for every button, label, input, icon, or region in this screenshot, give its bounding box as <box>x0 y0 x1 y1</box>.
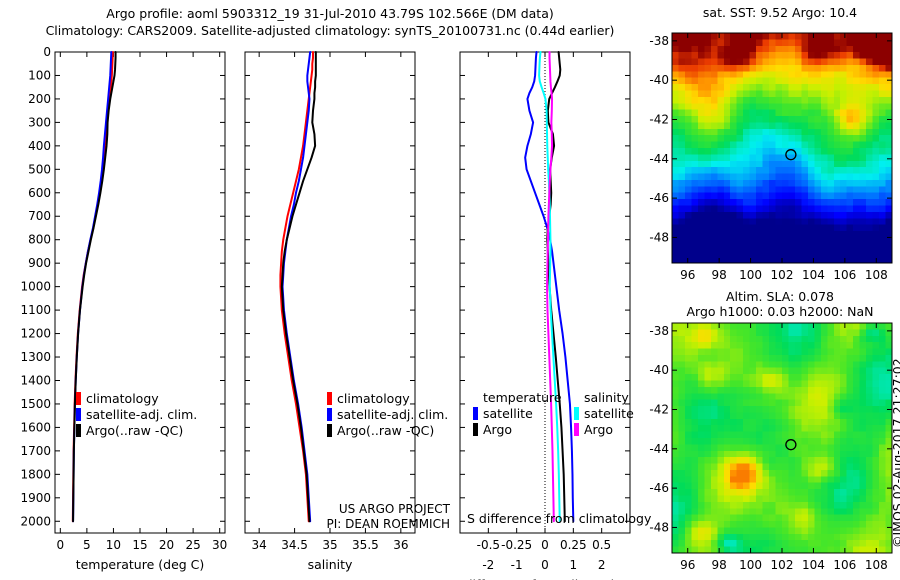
field-cell <box>724 71 731 78</box>
field-cell <box>717 122 724 129</box>
field-cell <box>678 444 685 451</box>
field-cell <box>873 393 880 400</box>
field-cell <box>672 393 679 400</box>
field-cell <box>717 59 724 66</box>
field-cell <box>685 329 692 336</box>
field-cell <box>730 508 737 515</box>
field-cell <box>704 349 711 356</box>
field-cell <box>743 250 750 257</box>
field-cell <box>691 444 698 451</box>
field-cell <box>840 71 847 78</box>
field-cell <box>711 154 718 161</box>
field-cell <box>776 250 783 257</box>
field-cell <box>801 237 808 244</box>
field-cell <box>698 527 705 534</box>
field-cell <box>873 489 880 496</box>
field-cell <box>717 361 724 368</box>
field-cell <box>788 186 795 193</box>
field-cell <box>840 476 847 483</box>
field-cell <box>814 425 821 432</box>
field-cell <box>672 381 679 388</box>
field-cell <box>834 457 841 464</box>
field-cell <box>847 412 854 419</box>
field-cell <box>698 78 705 85</box>
field-cell <box>685 84 692 91</box>
field-cell <box>672 412 679 419</box>
field-cell <box>730 193 737 200</box>
field-cell <box>782 103 789 110</box>
field-cell <box>698 400 705 407</box>
field-cell <box>730 444 737 451</box>
field-cell <box>685 412 692 419</box>
legend-item-satellite-clim: satellite-adj. clim. <box>76 406 197 422</box>
field-cell <box>769 515 776 522</box>
field-cell <box>840 457 847 464</box>
field-cell <box>788 97 795 104</box>
field-cell <box>873 457 880 464</box>
field-cell <box>853 97 860 104</box>
field-cell <box>763 103 770 110</box>
field-cell <box>860 349 867 356</box>
field-cell <box>724 167 731 174</box>
field-cell <box>840 432 847 439</box>
field-cell <box>730 323 737 330</box>
field-cell <box>795 116 802 123</box>
field-cell <box>743 508 750 515</box>
field-cell <box>672 349 679 356</box>
field-cell <box>704 515 711 522</box>
field-cell <box>795 540 802 547</box>
field-cell <box>704 250 711 257</box>
field-cell <box>788 142 795 149</box>
field-cell <box>801 336 808 343</box>
field-cell <box>691 116 698 123</box>
field-cell <box>743 103 750 110</box>
field-cell <box>776 218 783 225</box>
field-cell <box>808 225 815 232</box>
field-cell <box>821 419 828 426</box>
field-cell <box>711 502 718 509</box>
field-cell <box>672 323 679 330</box>
field-cell <box>873 451 880 458</box>
field-cell <box>853 502 860 509</box>
field-cell <box>711 508 718 515</box>
field-cell <box>788 174 795 181</box>
field-cell <box>737 97 744 104</box>
field-cell <box>698 84 705 91</box>
field-cell <box>827 212 834 219</box>
field-cell <box>672 457 679 464</box>
field-cell <box>814 78 821 85</box>
field-cell <box>879 78 886 85</box>
field-cell <box>776 432 783 439</box>
field-cell <box>827 406 834 413</box>
field-cell <box>763 419 770 426</box>
field-cell <box>724 250 731 257</box>
field-cell <box>821 135 828 142</box>
field-cell <box>879 457 886 464</box>
field-cell <box>704 103 711 110</box>
field-cell <box>737 218 744 225</box>
field-cell <box>730 212 737 219</box>
field-cell <box>827 451 834 458</box>
field-cell <box>769 193 776 200</box>
field-cell <box>743 199 750 206</box>
field-cell <box>704 355 711 362</box>
field-cell <box>873 406 880 413</box>
field-cell <box>788 91 795 98</box>
field-cell <box>737 393 744 400</box>
field-cell <box>743 186 750 193</box>
field-cell <box>711 400 718 407</box>
field-cell <box>724 444 731 451</box>
field-cell <box>717 250 724 257</box>
field-cell <box>685 444 692 451</box>
field-cell <box>724 400 731 407</box>
field-cell <box>691 250 698 257</box>
field-cell <box>678 425 685 432</box>
field-cell <box>834 400 841 407</box>
field-cell <box>737 103 744 110</box>
field-cell <box>724 515 731 522</box>
field-cell <box>821 432 828 439</box>
field-cell <box>814 225 821 232</box>
field-cell <box>776 457 783 464</box>
field-cell <box>691 521 698 528</box>
field-cell <box>879 129 886 136</box>
field-cell <box>808 464 815 471</box>
field-cell <box>711 444 718 451</box>
field-cell <box>691 161 698 168</box>
field-cell <box>678 361 685 368</box>
field-cell <box>860 129 867 136</box>
field-cell <box>698 154 705 161</box>
s-axis-tick-label: 0 <box>541 538 549 552</box>
field-cell <box>814 142 821 149</box>
sla-map: 9698100102104106108-38-40-42-44-46-48 <box>660 290 900 580</box>
field-cell <box>698 393 705 400</box>
field-cell <box>743 174 750 181</box>
field-cell <box>827 167 834 174</box>
project-credit-line-1: US ARGO PROJECT <box>300 502 450 517</box>
field-cell <box>756 180 763 187</box>
field-cell <box>737 142 744 149</box>
field-cell <box>685 361 692 368</box>
field-cell <box>821 174 828 181</box>
field-cell <box>704 52 711 59</box>
field-cell <box>879 154 886 161</box>
field-cell <box>717 244 724 251</box>
field-cell <box>756 206 763 213</box>
field-cell <box>717 52 724 59</box>
field-cell <box>743 425 750 432</box>
field-cell <box>672 199 679 206</box>
x-tick-label: 30 <box>212 538 227 552</box>
field-cell <box>821 97 828 104</box>
field-cell <box>834 174 841 181</box>
field-cell <box>685 368 692 375</box>
field-cell <box>763 368 770 375</box>
field-cell <box>691 419 698 426</box>
field-cell <box>866 174 873 181</box>
field-cell <box>691 174 698 181</box>
field-cell <box>879 71 886 78</box>
field-cell <box>847 237 854 244</box>
field-cell <box>866 432 873 439</box>
lon-tick-label: 104 <box>802 268 825 282</box>
field-cell <box>788 521 795 528</box>
y-tick-label: 1900 <box>20 491 51 505</box>
field-cell <box>879 470 886 477</box>
field-cell <box>879 91 886 98</box>
field-cell <box>691 406 698 413</box>
t-axis-tick-label: 0 <box>541 558 549 572</box>
field-cell <box>788 244 795 251</box>
field-cell <box>730 355 737 362</box>
field-cell <box>685 432 692 439</box>
field-cell <box>827 502 834 509</box>
field-cell <box>685 97 692 104</box>
field-cell <box>737 78 744 85</box>
field-cell <box>808 451 815 458</box>
field-cell <box>756 361 763 368</box>
field-cell <box>814 508 821 515</box>
field-cell <box>782 33 789 40</box>
field-cell <box>879 122 886 129</box>
field-cell <box>788 65 795 72</box>
field-cell <box>847 180 854 187</box>
y-tick-label: 1700 <box>20 444 51 458</box>
x-tick-label: 5 <box>83 538 91 552</box>
field-cell <box>743 470 750 477</box>
field-cell <box>730 336 737 343</box>
field-cell <box>717 496 724 503</box>
field-cell <box>840 419 847 426</box>
field-cell <box>698 502 705 509</box>
field-cell <box>808 110 815 117</box>
field-cell <box>711 534 718 541</box>
field-cell <box>821 451 828 458</box>
field-cell <box>847 368 854 375</box>
field-cell <box>834 527 841 534</box>
field-cell <box>821 534 828 541</box>
field-cell <box>704 218 711 225</box>
field-cell <box>704 540 711 547</box>
field-cell <box>717 432 724 439</box>
field-cell <box>672 33 679 40</box>
field-cell <box>827 129 834 136</box>
field-cell <box>678 142 685 149</box>
field-cell <box>834 46 841 53</box>
field-cell <box>879 387 886 394</box>
field-cell <box>776 406 783 413</box>
field-cell <box>866 374 873 381</box>
field-cell <box>847 142 854 149</box>
legend-label-temp-argo: Argo <box>483 422 512 437</box>
field-cell <box>678 323 685 330</box>
field-cell <box>840 91 847 98</box>
field-cell <box>737 412 744 419</box>
field-cell <box>691 425 698 432</box>
y-tick-label: 1400 <box>20 373 51 387</box>
field-cell <box>717 406 724 413</box>
field-cell <box>834 534 841 541</box>
field-cell <box>827 444 834 451</box>
field-cell <box>840 444 847 451</box>
field-cell <box>717 180 724 187</box>
field-cell <box>730 489 737 496</box>
field-cell <box>808 515 815 522</box>
field-cell <box>782 250 789 257</box>
field-cell <box>814 496 821 503</box>
field-cell <box>866 457 873 464</box>
field-cell <box>866 406 873 413</box>
field-cell <box>776 451 783 458</box>
field-cell <box>866 483 873 490</box>
field-cell <box>743 374 750 381</box>
field-cell <box>704 225 711 232</box>
field-cell <box>834 110 841 117</box>
plot-frame <box>245 52 415 533</box>
field-cell <box>678 78 685 85</box>
field-cell <box>769 167 776 174</box>
field-cell <box>860 46 867 53</box>
field-cell <box>847 419 854 426</box>
field-cell <box>737 342 744 349</box>
field-cell <box>879 39 886 46</box>
field-cell <box>821 129 828 136</box>
field-cell <box>756 470 763 477</box>
field-cell <box>840 470 847 477</box>
field-cell <box>724 432 731 439</box>
field-cell <box>866 329 873 336</box>
field-cell <box>743 78 750 85</box>
y-tick-label: 1300 <box>20 350 51 364</box>
field-cell <box>756 432 763 439</box>
field-cell <box>853 540 860 547</box>
field-cell <box>685 323 692 330</box>
field-cell <box>866 540 873 547</box>
field-cell <box>847 323 854 330</box>
legend-item-argo: Argo(..raw -QC) <box>76 422 197 438</box>
field-cell <box>866 237 873 244</box>
field-cell <box>743 329 750 336</box>
field-cell <box>750 110 757 117</box>
field-cell <box>847 135 854 142</box>
field-cell <box>853 489 860 496</box>
field-cell <box>814 470 821 477</box>
field-cell <box>737 161 744 168</box>
field-cell <box>879 225 886 232</box>
field-cell <box>788 400 795 407</box>
field-cell <box>704 361 711 368</box>
field-cell <box>873 225 880 232</box>
field-cell <box>769 116 776 123</box>
field-cell <box>776 65 783 72</box>
field-cell <box>873 231 880 238</box>
field-cell <box>711 323 718 330</box>
field-cell <box>711 46 718 53</box>
field-cell <box>808 393 815 400</box>
field-cell <box>860 368 867 375</box>
sst-field <box>672 33 893 264</box>
field-cell <box>795 368 802 375</box>
field-cell <box>821 110 828 117</box>
field-cell <box>782 244 789 251</box>
field-cell <box>860 148 867 155</box>
field-cell <box>672 180 679 187</box>
field-cell <box>821 361 828 368</box>
field-cell <box>717 381 724 388</box>
field-cell <box>685 39 692 46</box>
field-cell <box>853 419 860 426</box>
field-cell <box>698 135 705 142</box>
field-cell <box>814 180 821 187</box>
field-cell <box>750 142 757 149</box>
field-cell <box>724 142 731 149</box>
field-cell <box>795 534 802 541</box>
field-cell <box>853 212 860 219</box>
x-tick-label: 25 <box>185 538 200 552</box>
field-cell <box>711 218 718 225</box>
field-cell <box>821 521 828 528</box>
field-cell <box>801 212 808 219</box>
field-cell <box>860 33 867 40</box>
field-cell <box>834 231 841 238</box>
field-cell <box>711 476 718 483</box>
field-cell <box>808 129 815 136</box>
field-cell <box>821 167 828 174</box>
field-cell <box>821 218 828 225</box>
field-cell <box>763 515 770 522</box>
field-cell <box>763 508 770 515</box>
field-cell <box>743 212 750 219</box>
field-cell <box>827 361 834 368</box>
field-cell <box>808 381 815 388</box>
field-cell <box>847 84 854 91</box>
field-cell <box>737 174 744 181</box>
field-cell <box>873 122 880 129</box>
field-cell <box>743 342 750 349</box>
field-cell <box>795 412 802 419</box>
field-cell <box>827 218 834 225</box>
field-cell <box>821 515 828 522</box>
field-cell <box>840 52 847 59</box>
field-cell <box>801 432 808 439</box>
field-cell <box>788 116 795 123</box>
field-cell <box>788 470 795 477</box>
field-cell <box>698 521 705 528</box>
field-cell <box>756 231 763 238</box>
legend-label-sal-satellite: satellite <box>584 406 634 421</box>
field-cell <box>873 161 880 168</box>
field-cell <box>840 412 847 419</box>
field-cell <box>717 489 724 496</box>
field-cell <box>801 412 808 419</box>
project-credit-line-2: PI: DEAN ROEMMICH <box>300 517 450 532</box>
field-cell <box>814 199 821 206</box>
field-cell <box>782 540 789 547</box>
field-cell <box>685 425 692 432</box>
field-cell <box>763 110 770 117</box>
field-cell <box>763 71 770 78</box>
field-cell <box>672 161 679 168</box>
field-cell <box>827 206 834 213</box>
field-cell <box>866 148 873 155</box>
field-cell <box>678 110 685 117</box>
field-cell <box>717 39 724 46</box>
field-cell <box>756 250 763 257</box>
